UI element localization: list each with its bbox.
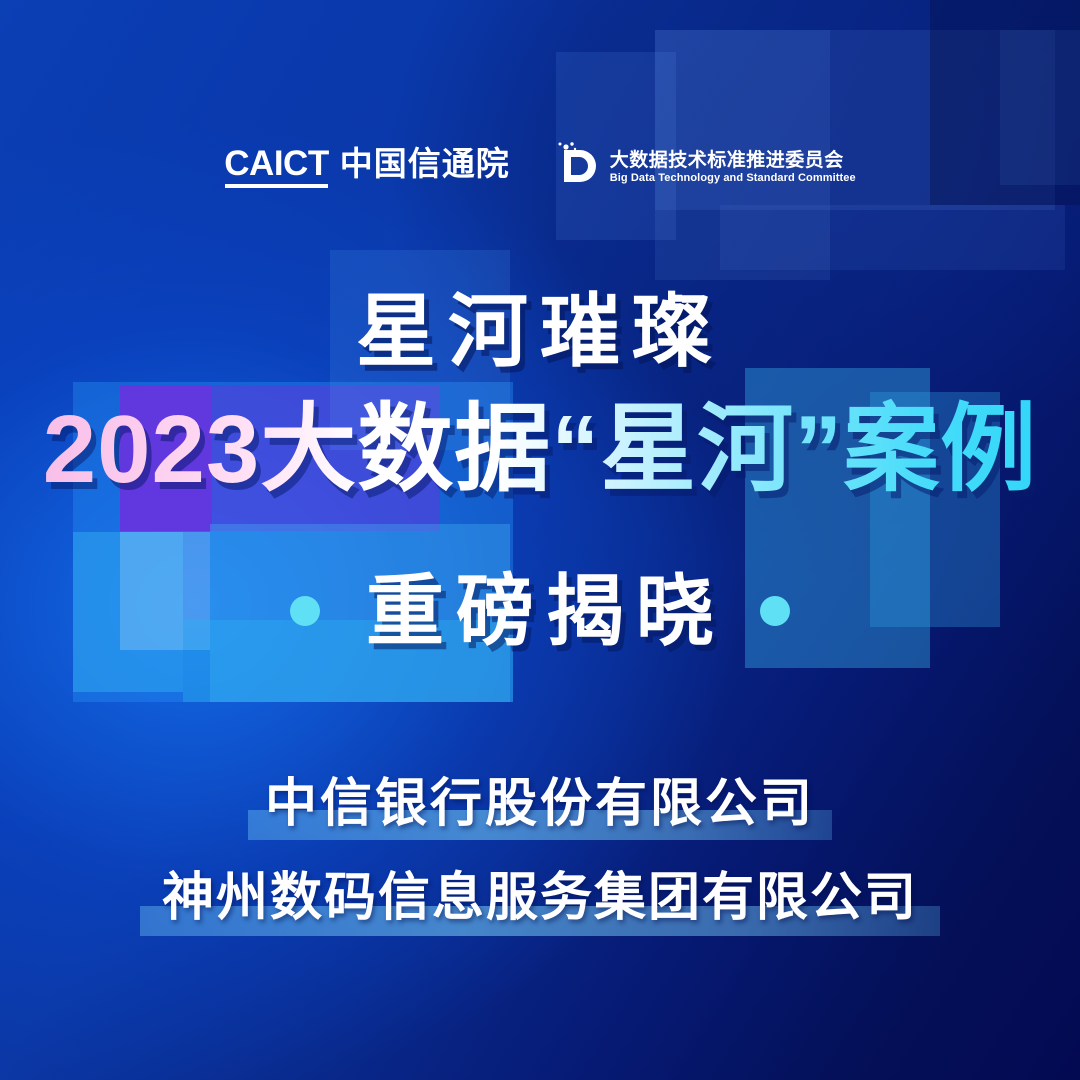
headline-line-3-row: 重磅揭晓 — [0, 572, 1080, 650]
headline-line-3: 重磅揭晓 — [354, 572, 726, 650]
winner-label-2: 神州数码信息服务集团有限公司 — [162, 872, 918, 924]
bullet-dot-left-icon — [290, 596, 320, 626]
bdtsc-text-block: 大数据技术标准推进委员会 Big Data Technology and Sta… — [610, 151, 856, 184]
headline-line-1: 星河璀璨 — [0, 292, 1080, 372]
winner-name-1: 中信银行股份有限公司 — [0, 778, 1080, 830]
header-logo-row: CAICT 中国信通院 大数据技术标准推进委员会 Big Data Techno… — [0, 140, 1080, 195]
caict-logo: CAICT 中国信通院 — [224, 146, 509, 189]
caict-wordmark: CAICT — [224, 146, 328, 189]
headline-line-2: 2023大数据“星河”案例 — [0, 398, 1080, 502]
bullet-dot-right-icon — [760, 596, 790, 626]
poster-canvas: CAICT 中国信通院 大数据技术标准推进委员会 Big Data Techno… — [0, 0, 1080, 1080]
bdtsc-name-en: Big Data Technology and Standard Committ… — [610, 173, 856, 184]
bdtsc-d-icon — [554, 140, 598, 195]
caict-name-cn: 中国信通院 — [340, 147, 510, 180]
bdtsc-name-cn: 大数据技术标准推进委员会 — [610, 151, 856, 170]
decor-block-top-right-lower — [720, 205, 1065, 270]
bdtsc-logo: 大数据技术标准推进委员会 Big Data Technology and Sta… — [554, 140, 856, 195]
winner-name-2: 神州数码信息服务集团有限公司 — [0, 872, 1080, 924]
winner-label-1: 中信银行股份有限公司 — [265, 778, 815, 830]
